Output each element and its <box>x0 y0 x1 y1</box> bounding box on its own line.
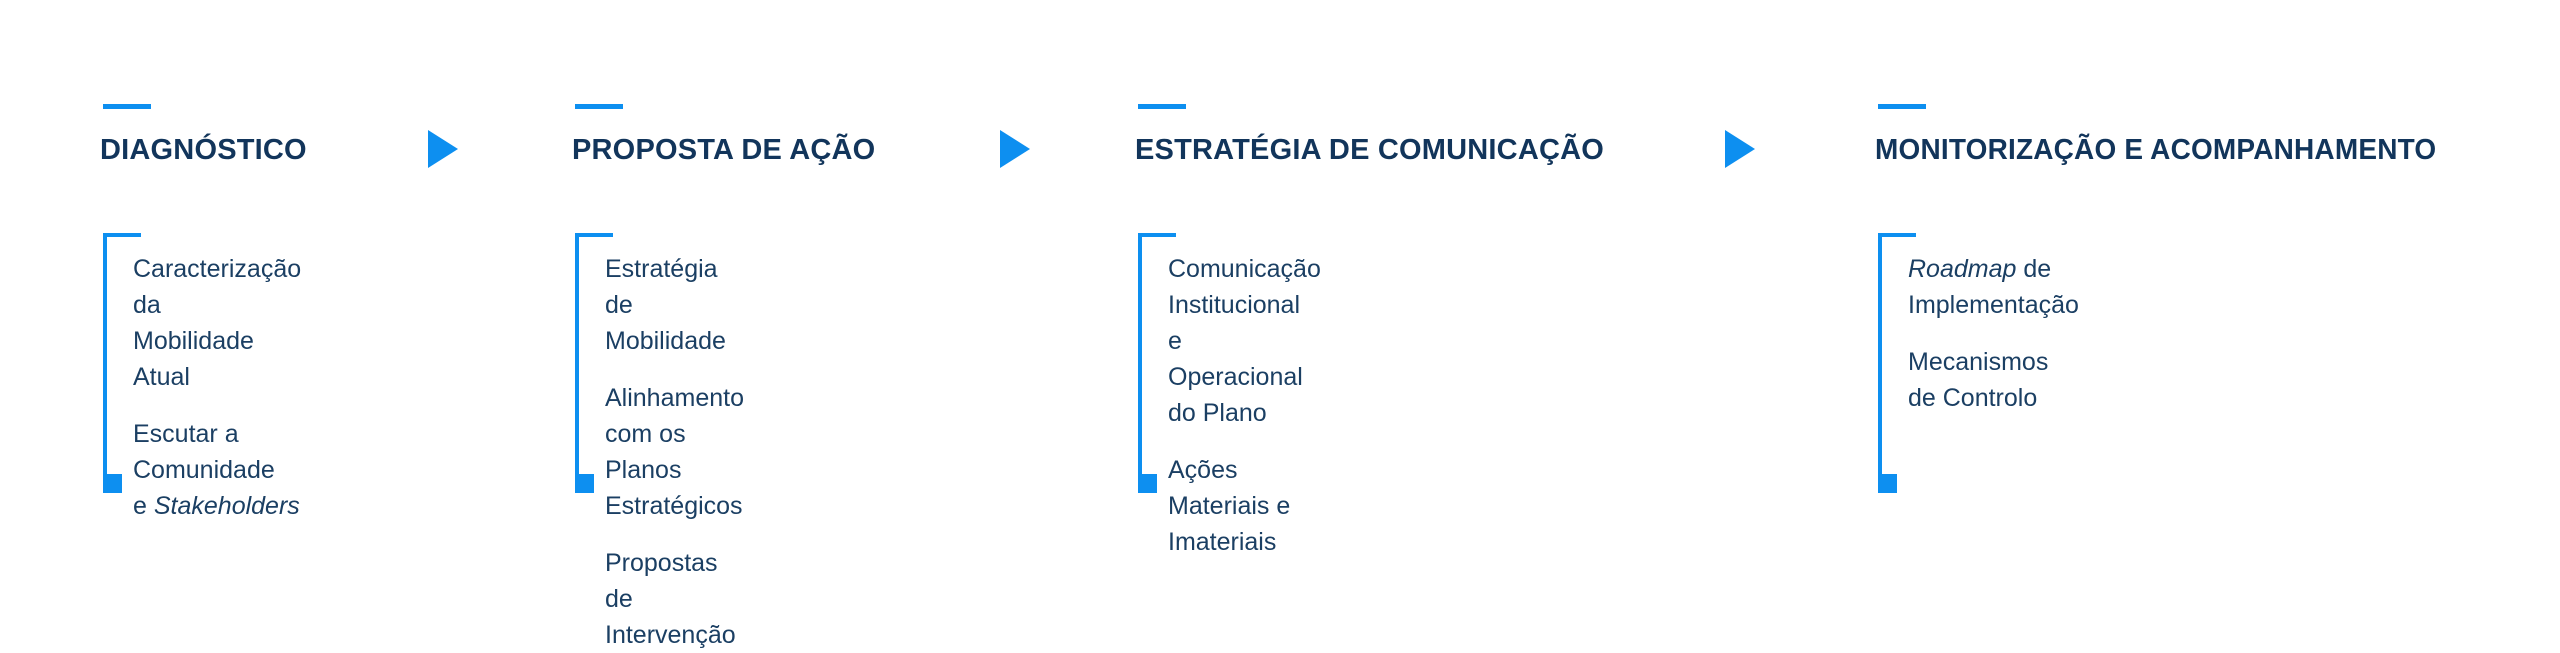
bracket-foot-square-icon <box>1138 474 1157 493</box>
phase-title: PROPOSTA DE AÇÃO <box>572 136 875 165</box>
list-item: Ações Materiais e Imateriais <box>1168 452 1321 560</box>
list-item: Caracterização da Mobilidade Atual <box>133 251 301 395</box>
list-item: Mecanismos de Controlo <box>1908 344 2079 416</box>
bracket-stem-icon <box>575 233 579 493</box>
bracket-top-tick-icon <box>1138 233 1176 237</box>
phase-header: PROPOSTA DE AÇÃO <box>572 104 875 165</box>
phase-header: DIAGNÓSTICO <box>100 104 307 165</box>
phase-title: ESTRATÉGIA DE COMUNICAÇÃO <box>1135 136 1604 165</box>
bracket-foot-square-icon <box>575 474 594 493</box>
phase-item-list: Caracterização da Mobilidade Atual Escut… <box>133 251 301 524</box>
bracket-top-tick-icon <box>103 233 141 237</box>
accent-dash-icon <box>103 104 151 109</box>
list-item: Estratégia de Mobilidade <box>605 251 744 359</box>
phase-item-list: Comunicação Institucional e Operacional … <box>1168 251 1321 560</box>
bracket-foot-square-icon <box>103 474 122 493</box>
bracket-stem-icon <box>1138 233 1142 493</box>
list-item: Roadmap de Implementação <box>1908 251 2079 323</box>
phase-header: ESTRATÉGIA DE COMUNICAÇÃO <box>1135 104 1604 165</box>
list-item: Alinhamento com os Planos Estratégicos <box>605 380 744 524</box>
phase-title: MONITORIZAÇÃO E ACOMPANHAMENTO <box>1875 136 2436 165</box>
list-item: Propostas de Intervenção <box>605 545 744 653</box>
accent-dash-icon <box>1138 104 1186 109</box>
phase-item-list: Estratégia de Mobilidade Alinhamento com… <box>605 251 744 653</box>
list-item: Comunicação Institucional e Operacional … <box>1168 251 1321 431</box>
phase-header: MONITORIZAÇÃO E ACOMPANHAMENTO <box>1875 104 2457 165</box>
list-item: Escutar a Comunidade e Stakeholders <box>133 416 301 524</box>
bracket-stem-icon <box>103 233 107 493</box>
accent-dash-icon <box>1878 104 1926 109</box>
accent-dash-icon <box>575 104 623 109</box>
bracket-top-tick-icon <box>575 233 613 237</box>
next-phase-arrow-icon <box>428 130 458 168</box>
process-phases-diagram: DIAGNÓSTICO Caracterização da Mobilidade… <box>0 0 2560 572</box>
bracket-foot-square-icon <box>1878 474 1897 493</box>
bracket-stem-icon <box>1878 233 1882 493</box>
next-phase-arrow-icon <box>1725 130 1755 168</box>
phase-title: DIAGNÓSTICO <box>100 136 307 165</box>
next-phase-arrow-icon <box>1000 130 1030 168</box>
phase-item-list: Roadmap de Implementação Mecanismos de C… <box>1908 251 2079 416</box>
bracket-top-tick-icon <box>1878 233 1916 237</box>
